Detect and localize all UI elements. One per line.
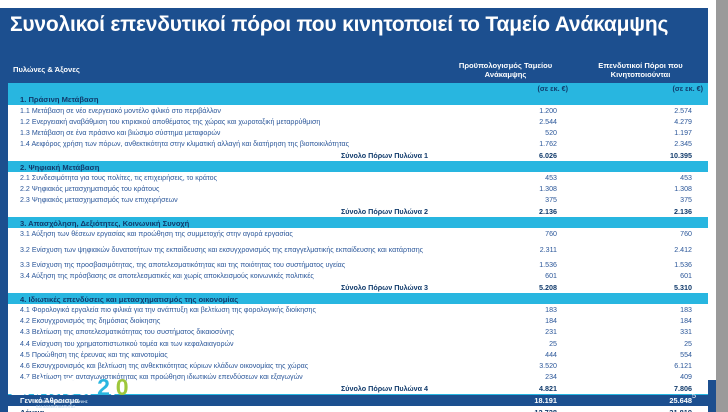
axis-budget: 3.520 [438, 360, 573, 371]
loans-mobilized: 31.819 [573, 406, 708, 412]
table-row: 1.3 Μετάβαση σε ένα πράσινο και βιώσιμο … [8, 127, 708, 138]
table-row: 4.1 Φορολογικά εργαλεία πιο φιλικά για τ… [8, 304, 708, 315]
axis-label: 4.4 Ενίσχυση του χρηματοπιστωτικού τομέα… [8, 338, 438, 349]
top-white-band [0, 0, 716, 8]
subtotal-budget: 6.026 [438, 150, 573, 162]
axis-mobilized: 331 [573, 327, 708, 338]
axis-mobilized: 1.536 [573, 260, 708, 271]
section-header-2: 2. Ψηφιακή Μετάβαση [8, 161, 708, 172]
axis-mobilized: 601 [573, 271, 708, 282]
subtotal-label: Σύνολο Πόρων Πυλώνα 3 [8, 282, 438, 294]
axis-budget: 2.311 [438, 240, 573, 260]
resources-table-wrapper: Πυλώνες & Άξονες Προϋπολογισμός Ταμείου … [8, 57, 708, 412]
subtotal-label: Σύνολο Πόρων Πυλώνα 2 [8, 206, 438, 218]
grand-total-budget: 18.191 [438, 394, 573, 406]
axis-budget: 183 [438, 304, 573, 315]
resources-table: Πυλώνες & Άξονες Προϋπολογισμός Ταμείου … [8, 57, 708, 412]
unit-spacer [8, 83, 438, 94]
axis-label: 2.2 Ψηφιακός μετασχηματισμός του κράτους [8, 183, 438, 194]
axis-mobilized: 4.279 [573, 116, 708, 127]
table-row: 4.5 Προώθηση της έρευνας και της καινοτο… [8, 349, 708, 360]
axis-budget: 234 [438, 372, 573, 383]
column-header-mobilized: Επενδυτικοί Πόροι που Κινητοποιούνται [573, 57, 708, 83]
axis-budget: 2.544 [438, 116, 573, 127]
table-row: 3.3 Ενίσχυση της προσβασιμότητας, της απ… [8, 260, 708, 271]
axis-label: 3.3 Ενίσχυση της προσβασιμότητας, της απ… [8, 260, 438, 271]
logo-version-minor: 0 [116, 374, 129, 400]
axis-label: 4.6 Εκσυγχρονισμός και βελτίωση της ανθε… [8, 360, 438, 371]
table-row: 4.2 Εκσυγχρονισμός της δημόσιας διοίκηση… [8, 316, 708, 327]
axis-budget: 453 [438, 172, 573, 183]
column-header-budget: Προϋπολογισμός Ταμείου Ανάκαμψης [438, 57, 573, 83]
page-title: Συνολικοί επενδυτικοί πόροι που κινητοπο… [10, 12, 670, 38]
table-row: 1.4 Αειφόρος χρήση των πόρων, ανθεκτικότ… [8, 139, 708, 150]
axis-mobilized: 6.121 [573, 360, 708, 371]
table-row: 3.1 Αύξηση των θέσεων εργασίας και προώθ… [8, 228, 708, 239]
subtotal-mobilized: 5.310 [573, 282, 708, 294]
axis-mobilized: 183 [573, 304, 708, 315]
axis-label: 1.1 Μετάβαση σε νέο ενεργειακό μοντέλο φ… [8, 105, 438, 116]
axis-mobilized: 453 [573, 172, 708, 183]
axis-mobilized: 409 [573, 372, 708, 383]
right-white-band [708, 0, 716, 380]
axis-budget: 520 [438, 127, 573, 138]
axis-budget: 375 [438, 195, 573, 206]
axis-label: 1.4 Αειφόρος χρήση των πόρων, ανθεκτικότ… [8, 139, 438, 150]
table-row: 4.6 Εκσυγχρονισμός και βελτίωση της ανθε… [8, 360, 708, 371]
logo-subtitle-line2: ΚΑΙ ΑΝΘΕΚΤΙΚΟΤΗΤΑΣ [36, 405, 190, 409]
section-title: 3. Απασχόληση, Δεξιότητες, Κοινωνική Συν… [8, 217, 708, 228]
axis-budget: 184 [438, 316, 573, 327]
unit-mobilized: (σε εκ. €) [573, 83, 708, 94]
table-row: 3.4 Αύξηση της πρόσβασης σε αποτελεσματι… [8, 271, 708, 282]
subtotal-row-2: Σύνολο Πόρων Πυλώνα 2 2.136 2.136 [8, 206, 708, 218]
subtotal-row-3: Σύνολο Πόρων Πυλώνα 3 5.208 5.310 [8, 282, 708, 294]
table-row: 4.3 Βελτίωση της αποτελεσματικότητας του… [8, 327, 708, 338]
axis-label: 4.1 Φορολογικά εργαλεία πιο φιλικά για τ… [8, 304, 438, 315]
table-row: 2.2 Ψηφιακός μετασχηματισμός του κράτους… [8, 183, 708, 194]
section-header-1: 1. Πράσινη Μετάβαση [8, 94, 708, 105]
grand-total-mobilized: 25.648 [573, 394, 708, 406]
section-title: 1. Πράσινη Μετάβαση [8, 94, 708, 105]
axis-budget: 444 [438, 349, 573, 360]
axis-label: 3.1 Αύξηση των θέσεων εργασίας και προώθ… [8, 228, 438, 239]
axis-budget: 760 [438, 228, 573, 239]
axis-mobilized: 184 [573, 316, 708, 327]
table-row: 4.4 Ενίσχυση του χρηματοπιστωτικού τομέα… [8, 338, 708, 349]
right-grey-edge [716, 0, 728, 412]
loans-budget: 12.728 [438, 406, 573, 412]
table-row: 1.2 Ενεργειακή αναβάθμιση του κτιριακού … [8, 116, 708, 127]
axis-mobilized: 2.574 [573, 105, 708, 116]
section-header-3: 3. Απασχόληση, Δεξιότητες, Κοινωνική Συν… [8, 217, 708, 228]
brand-logo: Ελλάδα 2.0 ΕΘΝΙΚΟ ΣΧΕΔΙΟ ΑΝΑΚΑΜΨΗΣ ΚΑΙ Α… [10, 375, 190, 409]
axis-budget: 1.762 [438, 139, 573, 150]
axis-mobilized: 25 [573, 338, 708, 349]
axis-label: 2.3 Ψηφιακός μετασχηματισμός των επιχειρ… [8, 195, 438, 206]
table-unit-row: (σε εκ. €) (σε εκ. €) [8, 83, 708, 94]
axis-mobilized: 1.197 [573, 127, 708, 138]
axis-budget: 231 [438, 327, 573, 338]
subtotal-budget: 2.136 [438, 206, 573, 218]
axis-label: 2.1 Συνδεσιμότητα για τους πολίτες, τις … [8, 172, 438, 183]
axis-label: 3.4 Αύξηση της πρόσβασης σε αποτελεσματι… [8, 271, 438, 282]
subtotal-mobilized: 2.136 [573, 206, 708, 218]
subtotal-row-1: Σύνολο Πόρων Πυλώνα 1 6.026 10.395 [8, 150, 708, 162]
axis-label: 3.2 Ενίσχυση των ψηφιακών δυνατοτήτων τη… [8, 240, 438, 260]
axis-label: 1.3 Μετάβαση σε ένα πράσινο και βιώσιμο … [8, 127, 438, 138]
page-number: 5 [692, 391, 696, 400]
axis-mobilized: 375 [573, 195, 708, 206]
axis-budget: 25 [438, 338, 573, 349]
axis-label: 4.3 Βελτίωση της αποτελεσματικότητας του… [8, 327, 438, 338]
axis-mobilized: 554 [573, 349, 708, 360]
axis-label: 4.2 Εκσυγχρονισμός της δημόσιας διοίκηση… [8, 316, 438, 327]
logo-version-major: 2 [97, 374, 110, 400]
axis-budget: 1.200 [438, 105, 573, 116]
axis-mobilized: 760 [573, 228, 708, 239]
slide-root: Συνολικοί επενδυτικοί πόροι που κινητοπο… [0, 0, 728, 412]
column-header-pillars: Πυλώνες & Άξονες [8, 57, 438, 83]
axis-mobilized: 2.412 [573, 240, 708, 260]
table-header-row: Πυλώνες & Άξονες Προϋπολογισμός Ταμείου … [8, 57, 708, 83]
subtotal-budget: 4.821 [438, 383, 573, 395]
section-title: 4. Ιδιωτικές επενδύσεις και μετασχηματισ… [8, 293, 708, 304]
section-header-4: 4. Ιδιωτικές επενδύσεις και μετασχηματισ… [8, 293, 708, 304]
table-row: 1.1 Μετάβαση σε νέο ενεργειακό μοντέλο φ… [8, 105, 708, 116]
table-row: 3.2 Ενίσχυση των ψηφιακών δυνατοτήτων τη… [8, 240, 708, 260]
table-row: 2.3 Ψηφιακός μετασχηματισμός των επιχειρ… [8, 195, 708, 206]
axis-label: 4.5 Προώθηση της έρευνας και της καινοτο… [8, 349, 438, 360]
table-row: 2.1 Συνδεσιμότητα για τους πολίτες, τις … [8, 172, 708, 183]
subtotal-budget: 5.208 [438, 282, 573, 294]
axis-mobilized: 2.345 [573, 139, 708, 150]
axis-budget: 1.308 [438, 183, 573, 194]
logo-wordmark: Ελλάδα 2.0 [10, 375, 190, 399]
subtotal-mobilized: 7.806 [573, 383, 708, 395]
axis-budget: 601 [438, 271, 573, 282]
subtotal-mobilized: 10.395 [573, 150, 708, 162]
unit-budget: (σε εκ. €) [438, 83, 573, 94]
logo-subtitle-line1: ΕΘΝΙΚΟ ΣΧΕΔΙΟ ΑΝΑΚΑΜΨΗΣ [36, 400, 190, 404]
axis-label: 1.2 Ενεργειακή αναβάθμιση του κτιριακού … [8, 116, 438, 127]
section-title: 2. Ψηφιακή Μετάβαση [8, 161, 708, 172]
axis-budget: 1.536 [438, 260, 573, 271]
axis-mobilized: 1.308 [573, 183, 708, 194]
logo-name: Ελλάδα [10, 374, 91, 400]
subtotal-label: Σύνολο Πόρων Πυλώνα 1 [8, 150, 438, 162]
